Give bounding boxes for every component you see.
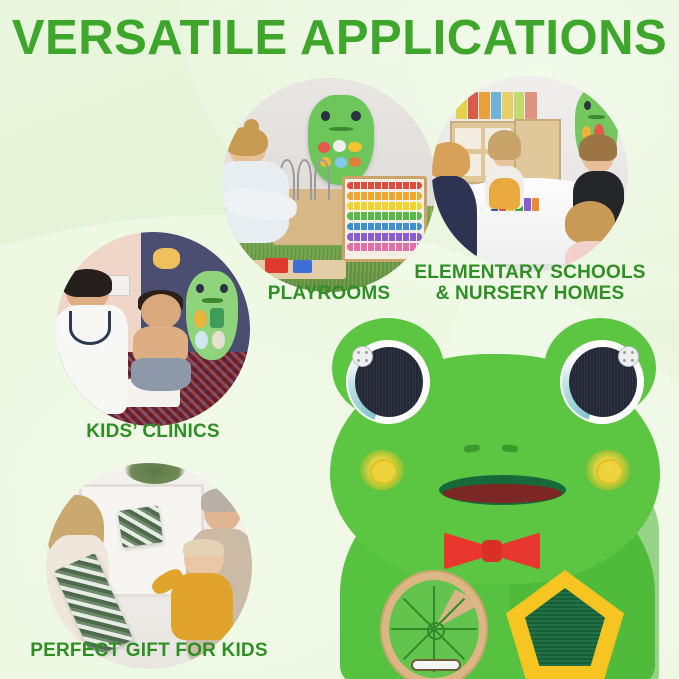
father-hair xyxy=(201,488,244,512)
doctor-figure xyxy=(56,275,130,415)
activity-piece-icon xyxy=(318,142,330,153)
activity-piece-icon xyxy=(349,157,360,167)
activity-piece-icon xyxy=(195,331,208,349)
caption-clinics: KIDS’ CLINICS xyxy=(48,421,258,442)
toddler-head xyxy=(141,294,181,329)
frog-activity-board-hero xyxy=(294,318,679,679)
teacher-body xyxy=(432,176,477,268)
classroom-scene xyxy=(432,76,628,272)
abacus-row xyxy=(347,202,422,210)
activity-piece-icon xyxy=(210,308,224,328)
child-hair xyxy=(488,130,521,160)
button-icon xyxy=(618,346,639,367)
doctor-hair xyxy=(63,269,112,297)
frog-cheek-left xyxy=(360,450,404,490)
abacus-row xyxy=(347,212,422,220)
photo-schools xyxy=(432,76,628,272)
frog-eye-right xyxy=(560,340,644,424)
gift-box-small xyxy=(118,506,164,548)
frog-mouth-icon xyxy=(202,298,223,302)
book-icon xyxy=(525,92,536,119)
caption-gift: PERFECT GIFT FOR KIDS xyxy=(14,640,284,661)
color-card xyxy=(532,198,539,212)
frog-mouth-inner xyxy=(443,484,562,503)
playroom-scene xyxy=(222,78,436,292)
teacher-hair xyxy=(432,142,470,178)
activity-piece-icon xyxy=(348,142,361,153)
frog-board-thumbnail xyxy=(186,271,238,360)
photo-clinics xyxy=(56,232,250,426)
bow-tie xyxy=(444,530,540,572)
frog-mouth-icon xyxy=(588,115,605,119)
frog-eye-icon xyxy=(220,284,228,293)
frog-cheek-right xyxy=(586,450,630,490)
frog-eye-left xyxy=(346,340,430,424)
abacus-row xyxy=(347,182,422,190)
book-icon xyxy=(502,92,513,119)
wall-sticker-icon xyxy=(153,248,180,269)
photo-gift xyxy=(46,463,252,669)
clock-zipper-slot[interactable] xyxy=(411,659,462,671)
abacus-row xyxy=(347,233,422,241)
frog-mouth xyxy=(439,475,566,505)
book-icon xyxy=(514,92,524,119)
toddler-pants xyxy=(131,358,191,391)
frog-mouth-icon xyxy=(329,127,353,131)
baby-figure xyxy=(170,541,236,648)
photo-playrooms xyxy=(222,78,436,292)
abacus-row xyxy=(347,243,422,251)
child-overalls xyxy=(489,178,520,209)
clock-face xyxy=(389,580,479,678)
child-figure xyxy=(483,135,526,209)
toddler-figure xyxy=(130,294,192,391)
activity-piece-icon xyxy=(212,331,225,349)
book-icon xyxy=(456,92,467,119)
caption-line-2: & NURSERY HOMES xyxy=(396,283,664,304)
child-hair xyxy=(225,127,268,156)
book-icon xyxy=(491,92,501,119)
stethoscope-icon xyxy=(69,311,111,345)
clock-wheel-activity[interactable] xyxy=(380,570,488,679)
caption-schools: ELEMENTARY SCHOOLS & NURSERY HOMES xyxy=(396,262,664,305)
book-icon xyxy=(468,92,478,119)
maze-wire-icon xyxy=(314,159,330,200)
clinic-scene xyxy=(56,232,250,426)
baby-hair xyxy=(183,539,224,556)
activity-piece-icon xyxy=(333,140,346,152)
product-marketing-image: VERSATILE APPLICATIONS xyxy=(0,0,679,679)
frog-eye-icon xyxy=(351,111,360,121)
frog-eye-icon xyxy=(196,284,204,293)
pentagon-inner-felt xyxy=(525,588,605,666)
bookshelf-books xyxy=(456,92,542,119)
baby-body xyxy=(171,573,233,639)
abacus-row xyxy=(347,192,422,200)
gift-scene xyxy=(46,463,252,669)
button-icon xyxy=(352,346,373,367)
page-title: VERSATILE APPLICATIONS xyxy=(0,10,679,66)
book-icon xyxy=(479,92,490,119)
child-hair xyxy=(565,201,616,244)
frog-eye-icon xyxy=(584,101,591,110)
bow-tie-wing-right xyxy=(496,530,540,572)
abacus-row xyxy=(347,223,422,231)
child-hair xyxy=(579,134,617,162)
frog-eye-icon xyxy=(321,111,330,121)
bow-tie-knot xyxy=(482,540,502,562)
clock-hub xyxy=(427,622,445,640)
teacher-figure xyxy=(432,147,479,269)
activity-piece-icon xyxy=(194,310,207,328)
activity-piece-icon xyxy=(335,157,347,168)
caption-line-1: ELEMENTARY SCHOOLS xyxy=(396,262,664,283)
frog-eye-icon xyxy=(603,101,610,110)
abacus-toy xyxy=(342,176,428,262)
